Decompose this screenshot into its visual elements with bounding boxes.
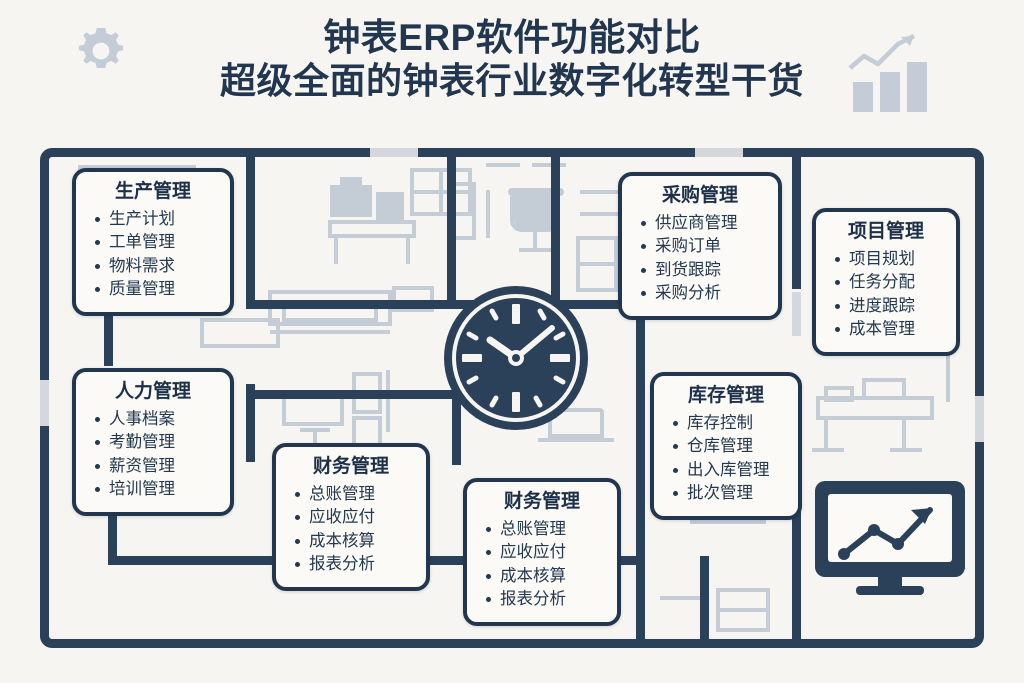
furniture-desk-right-small [824, 386, 854, 402]
module-card-production[interactable]: 生产管理 生产计划 工单管理 物料需求 质量管理 [72, 168, 234, 316]
title-line-2: 超级全面的钟表行业数字化转型干货 [0, 60, 1024, 102]
furniture-shelf-line [532, 163, 566, 167]
furniture-printer [330, 185, 372, 217]
feature-item: 采购订单 [640, 235, 766, 258]
card-feature-list: 总账管理 应收应付 成本核算 报表分析 [479, 518, 605, 612]
wall-segment [246, 390, 460, 399]
feature-item: 工单管理 [94, 231, 218, 254]
card-feature-list: 总账管理 应收应付 成本核算 报表分析 [288, 483, 414, 577]
furniture-printer-top [340, 177, 362, 187]
feature-item: 到货跟踪 [640, 259, 766, 282]
furniture-desk-foot [890, 448, 922, 452]
feature-item: 进度跟踪 [834, 295, 944, 318]
card-feature-list: 生产计划 工单管理 物料需求 质量管理 [88, 208, 218, 302]
monitor-chart-icon [812, 478, 968, 601]
feature-item: 成本管理 [834, 318, 944, 341]
wall-segment [636, 455, 645, 645]
furniture-desk-leg [902, 420, 906, 450]
card-title: 财务管理 [479, 491, 605, 514]
furniture-desk-right-top [862, 378, 906, 400]
wall-segment [246, 157, 255, 309]
door-gap [792, 292, 801, 336]
feature-item: 薪资管理 [94, 455, 218, 478]
card-feature-list: 供应商管理 采购订单 到货跟踪 采购分析 [634, 212, 766, 306]
module-card-procurement[interactable]: 采购管理 供应商管理 采购订单 到货跟踪 采购分析 [618, 172, 782, 320]
title-line-1: 钟表ERP软件功能对比 [0, 16, 1024, 60]
module-card-finance-primary[interactable]: 财务管理 总账管理 应收应付 成本核算 报表分析 [272, 443, 430, 591]
furniture-counter-base [538, 438, 614, 442]
furniture-shelf-line [580, 190, 622, 194]
feature-item: 供应商管理 [640, 212, 766, 235]
wall-segment [636, 300, 645, 460]
feature-item: 报表分析 [294, 553, 414, 576]
card-title: 人力管理 [88, 381, 218, 404]
feature-item: 应收应付 [294, 506, 414, 529]
furniture-storage-line [716, 608, 770, 612]
card-title: 生产管理 [88, 181, 218, 204]
card-feature-list: 库存控制 仓库管理 出入库管理 批次管理 [666, 412, 786, 506]
feature-item: 报表分析 [485, 588, 605, 611]
furniture-shelf-line [486, 163, 520, 167]
furniture-shelf-edge [386, 370, 390, 432]
card-title: 采购管理 [634, 185, 766, 208]
card-title: 项目管理 [828, 221, 944, 244]
feature-item: 采购分析 [640, 282, 766, 305]
feature-item: 培训管理 [94, 478, 218, 501]
feature-item: 成本核算 [485, 565, 605, 588]
card-title: 财务管理 [288, 456, 414, 479]
module-card-inventory[interactable]: 库存管理 库存控制 仓库管理 出入库管理 批次管理 [650, 372, 802, 520]
feature-item: 考勤管理 [94, 431, 218, 454]
card-title: 库存管理 [666, 385, 786, 408]
feature-item: 物料需求 [94, 255, 218, 278]
page-title: 钟表ERP软件功能对比 超级全面的钟表行业数字化转型干货 [0, 16, 1024, 102]
furniture-desk-leg [824, 420, 828, 450]
feature-item: 出入库管理 [672, 459, 786, 482]
feature-item: 项目规划 [834, 248, 944, 271]
wall-segment [246, 300, 456, 309]
door-gap [975, 396, 984, 442]
feature-item: 库存控制 [672, 412, 786, 435]
door-gap [40, 380, 49, 426]
feature-item: 生产计划 [94, 208, 218, 231]
furniture-table-line [270, 330, 390, 334]
feature-item: 批次管理 [672, 482, 786, 505]
module-card-hr[interactable]: 人力管理 人事档案 考勤管理 薪资管理 培训管理 [72, 368, 234, 516]
feature-item: 成本核算 [294, 530, 414, 553]
furniture-locker-divider [576, 262, 618, 266]
module-card-finance-secondary[interactable]: 财务管理 总账管理 应收应付 成本核算 报表分析 [463, 478, 621, 626]
furniture-side-table-2 [200, 318, 280, 348]
furniture-bin-body [514, 199, 556, 229]
feature-item: 应收应付 [485, 541, 605, 564]
wall-segment [792, 157, 801, 289]
furniture-desk-foot [812, 448, 844, 452]
feature-item: 总账管理 [294, 483, 414, 506]
infographic-canvas: 钟表ERP软件功能对比 超级全面的钟表行业数字化转型干货 [0, 0, 1024, 683]
furniture-rail [486, 190, 490, 238]
furniture-partition [946, 352, 950, 402]
furniture-base [519, 248, 551, 252]
furniture-desk-leg [406, 238, 410, 264]
card-feature-list: 人事档案 考勤管理 薪资管理 培训管理 [88, 408, 218, 502]
card-feature-list: 项目规划 任务分配 进度跟踪 成本管理 [828, 248, 944, 342]
feature-item: 总账管理 [485, 518, 605, 541]
furniture-shelf-line [580, 212, 622, 216]
feature-item: 质量管理 [94, 278, 218, 301]
feature-item: 仓库管理 [672, 435, 786, 458]
furniture-desk-leg [334, 238, 338, 264]
clock-icon [440, 282, 592, 434]
module-card-project[interactable]: 项目管理 项目规划 任务分配 进度跟踪 成本管理 [812, 208, 960, 356]
wall-segment [700, 556, 709, 648]
furniture-desk [328, 220, 416, 238]
feature-item: 任务分配 [834, 271, 944, 294]
door-gap [370, 148, 418, 157]
door-gap [695, 148, 743, 157]
feature-item: 人事档案 [94, 408, 218, 431]
